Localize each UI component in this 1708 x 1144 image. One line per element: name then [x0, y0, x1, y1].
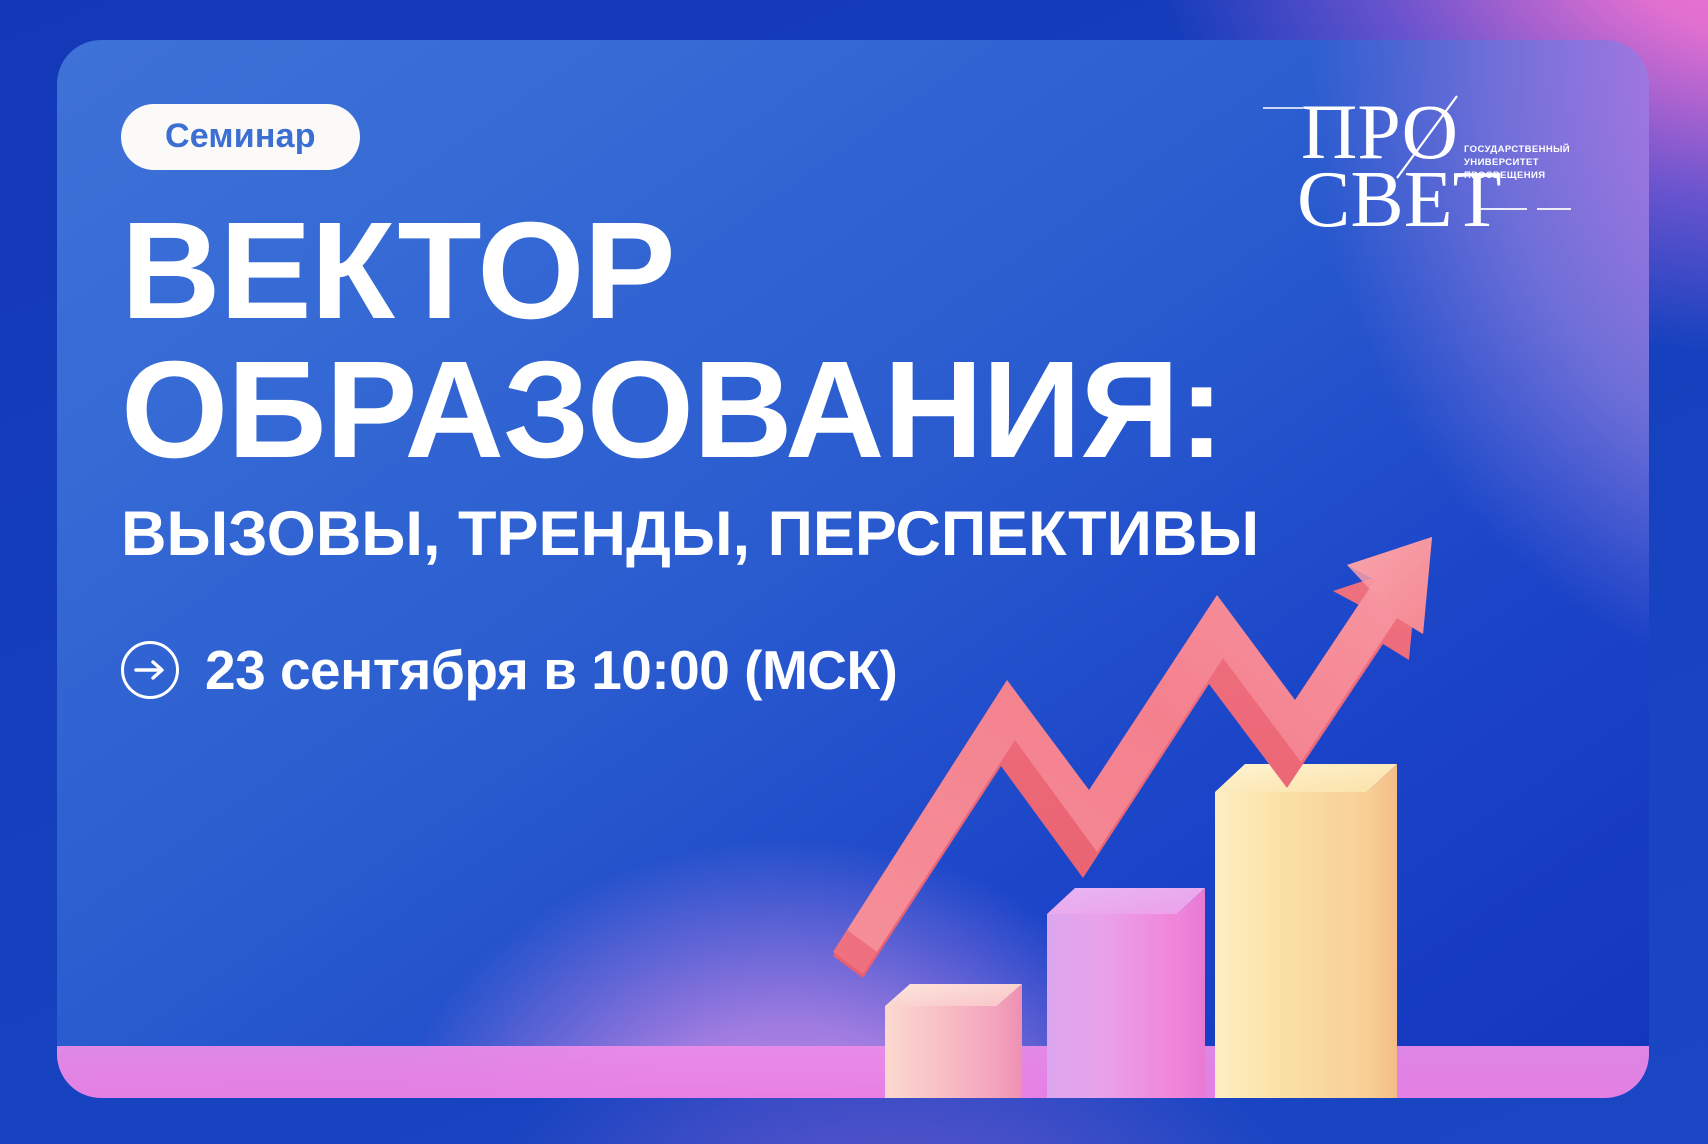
event-date-text: 23 сентября в 10:00 (МСК) [205, 638, 897, 702]
logo-tagline-line-1: ГОСУДАРСТВЕННЫЙ [1464, 143, 1570, 155]
page-title-line-2: ОБРАЗОВАНИЯ: [121, 343, 1501, 478]
seminar-poster: Семинар ВЕКТОР ОБРАЗОВАНИЯ: ВЫЗОВЫ, ТРЕН… [0, 0, 1708, 1144]
prosvet-logo: ПРО СВЕТ ГОСУДАРСТВЕННЫЙ УНИВЕРСИТЕТ ПРО… [1259, 86, 1589, 246]
logo-tagline-line-3: ПРОСВЕЩЕНИЯ [1464, 170, 1545, 181]
page-subtitle: ВЫЗОВЫ, ТРЕНДЫ, ПЕРСПЕКТИВЫ [121, 498, 1501, 570]
bar-small [885, 984, 1022, 1098]
event-datetime: 23 сентября в 10:00 (МСК) [121, 638, 1501, 702]
bar-medium [1047, 888, 1205, 1098]
logo-tagline-line-2: УНИВЕРСИТЕТ [1464, 157, 1539, 168]
arrow-right-circle-icon [121, 641, 179, 699]
seminar-badge: Семинар [121, 104, 360, 170]
bar-tall [1215, 764, 1397, 1098]
poster-card: Семинар ВЕКТОР ОБРАЗОВАНИЯ: ВЫЗОВЫ, ТРЕН… [57, 40, 1649, 1098]
